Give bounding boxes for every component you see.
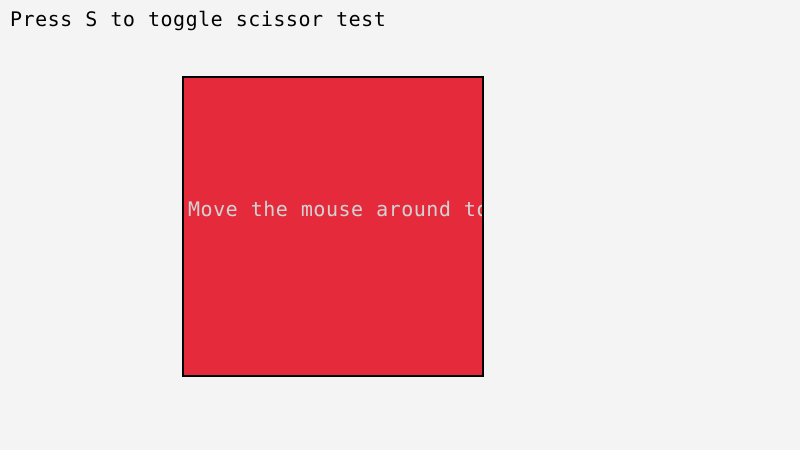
app-canvas: Press S to toggle scissor test Move the … [0,0,800,450]
scissor-rectangle[interactable]: Move the mouse around to reveal parts of… [182,76,484,377]
scissor-toggle-hint: Press S to toggle scissor test [10,8,386,30]
clipped-message-text: Move the mouse around to reveal parts of… [188,198,484,220]
